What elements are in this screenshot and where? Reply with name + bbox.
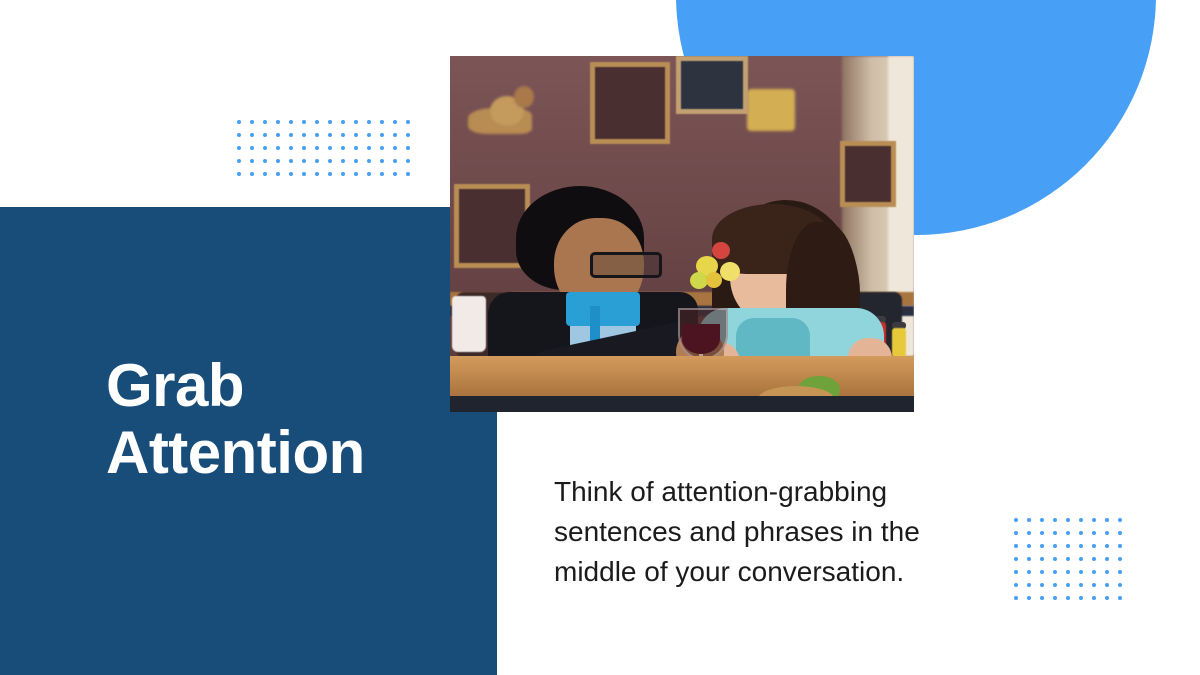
dot xyxy=(354,146,358,150)
photo-scene xyxy=(450,56,914,412)
dot xyxy=(1040,531,1044,535)
shelf-decor-plaque xyxy=(747,89,795,131)
dot xyxy=(354,133,358,137)
dot xyxy=(1118,583,1122,587)
dot xyxy=(1027,531,1031,535)
dot xyxy=(302,159,306,163)
wall-shelf-box xyxy=(590,62,670,144)
dot xyxy=(1079,583,1083,587)
man-glasses xyxy=(590,252,662,278)
dot xyxy=(354,120,358,124)
dot xyxy=(380,172,384,176)
dot xyxy=(263,146,267,150)
dot xyxy=(263,133,267,137)
flower xyxy=(712,242,730,259)
dot xyxy=(328,120,332,124)
flower-bouquet xyxy=(690,238,748,296)
dot xyxy=(289,133,293,137)
dot xyxy=(406,120,410,124)
dot xyxy=(393,159,397,163)
dot xyxy=(341,172,345,176)
wine-liquid xyxy=(682,324,720,354)
slide-canvas: Grab Attention Think of attention-grabbi… xyxy=(0,0,1200,675)
dot xyxy=(263,159,267,163)
dot xyxy=(354,159,358,163)
dot xyxy=(276,120,280,124)
dot xyxy=(276,133,280,137)
dot xyxy=(276,159,280,163)
dot xyxy=(289,120,293,124)
dot xyxy=(1027,570,1031,574)
dot xyxy=(1105,583,1109,587)
shelf-decor-statue xyxy=(514,86,534,108)
dot xyxy=(1014,544,1018,548)
page-title: Grab Attention xyxy=(106,352,486,486)
dot xyxy=(1014,583,1018,587)
dot xyxy=(1040,544,1044,548)
dot-grid-bottom-right xyxy=(1014,518,1122,600)
dot xyxy=(1053,583,1057,587)
dot xyxy=(1066,583,1070,587)
flower xyxy=(720,262,740,281)
dining-table xyxy=(450,356,914,396)
dot xyxy=(393,120,397,124)
dot xyxy=(393,172,397,176)
dot xyxy=(315,146,319,150)
dot xyxy=(1027,518,1031,522)
dot xyxy=(1092,583,1096,587)
dot xyxy=(315,120,319,124)
dot xyxy=(1066,596,1070,600)
dot xyxy=(315,133,319,137)
dot xyxy=(1014,518,1018,522)
dot xyxy=(1053,531,1057,535)
dot xyxy=(328,159,332,163)
dot xyxy=(367,120,371,124)
dot xyxy=(380,146,384,150)
dot xyxy=(289,159,293,163)
dot xyxy=(1053,518,1057,522)
dot xyxy=(1066,518,1070,522)
dot xyxy=(367,133,371,137)
dot xyxy=(250,159,254,163)
dot xyxy=(341,159,345,163)
dot xyxy=(380,159,384,163)
dot xyxy=(263,172,267,176)
dot xyxy=(250,172,254,176)
dot xyxy=(1092,557,1096,561)
dot xyxy=(1105,557,1109,561)
dot xyxy=(341,133,345,137)
dot xyxy=(1105,518,1109,522)
dot xyxy=(302,172,306,176)
dot xyxy=(1027,583,1031,587)
dot xyxy=(1092,596,1096,600)
dot-grid-top-left xyxy=(237,120,410,176)
dot xyxy=(1066,557,1070,561)
dot xyxy=(1092,518,1096,522)
dot xyxy=(1079,544,1083,548)
dot xyxy=(1105,531,1109,535)
dining-table-edge xyxy=(450,396,914,412)
dot xyxy=(1092,531,1096,535)
dot xyxy=(328,172,332,176)
dot xyxy=(380,120,384,124)
dot xyxy=(1118,570,1122,574)
dot xyxy=(328,146,332,150)
dot xyxy=(1066,544,1070,548)
dot xyxy=(276,146,280,150)
dot xyxy=(1040,518,1044,522)
man-collar xyxy=(566,292,640,326)
dot xyxy=(1105,544,1109,548)
dot xyxy=(1092,570,1096,574)
dot xyxy=(276,172,280,176)
dot xyxy=(1066,531,1070,535)
dot xyxy=(1118,596,1122,600)
dot xyxy=(250,120,254,124)
dot xyxy=(367,172,371,176)
dot xyxy=(1105,596,1109,600)
dot xyxy=(1053,557,1057,561)
dot xyxy=(263,120,267,124)
dot xyxy=(393,146,397,150)
dot xyxy=(237,159,241,163)
dot xyxy=(302,146,306,150)
dot xyxy=(1079,518,1083,522)
condiment-bottle xyxy=(892,328,906,358)
dot xyxy=(354,172,358,176)
dot xyxy=(1040,583,1044,587)
dot xyxy=(289,172,293,176)
dot xyxy=(1014,596,1018,600)
cup xyxy=(452,296,486,352)
dot xyxy=(1027,596,1031,600)
dot xyxy=(406,159,410,163)
wall-shelf-box xyxy=(676,56,748,114)
body-paragraph: Think of attention-grabbing sentences an… xyxy=(554,472,938,591)
dot xyxy=(1040,596,1044,600)
dot xyxy=(393,133,397,137)
dot xyxy=(1053,596,1057,600)
dot xyxy=(1053,570,1057,574)
dot xyxy=(1118,544,1122,548)
dot xyxy=(237,133,241,137)
page-title-line-2: Attention xyxy=(106,419,486,486)
dot xyxy=(1040,557,1044,561)
dot xyxy=(237,120,241,124)
dot xyxy=(1014,531,1018,535)
dot xyxy=(289,146,293,150)
dot xyxy=(237,146,241,150)
dot xyxy=(1014,557,1018,561)
dot xyxy=(1040,570,1044,574)
dot xyxy=(1118,531,1122,535)
dot xyxy=(1092,544,1096,548)
dot xyxy=(315,159,319,163)
dot xyxy=(250,146,254,150)
dot xyxy=(341,120,345,124)
dot xyxy=(367,146,371,150)
dot xyxy=(250,133,254,137)
flower xyxy=(706,272,722,288)
dot xyxy=(406,172,410,176)
slide-photo xyxy=(450,56,914,412)
dot xyxy=(1105,570,1109,574)
dot xyxy=(1118,518,1122,522)
dot xyxy=(328,133,332,137)
dot xyxy=(315,172,319,176)
dot xyxy=(1014,570,1018,574)
dot xyxy=(406,133,410,137)
dot xyxy=(302,120,306,124)
dot xyxy=(237,172,241,176)
page-title-line-1: Grab xyxy=(106,352,486,419)
dot xyxy=(1079,557,1083,561)
dot xyxy=(1053,544,1057,548)
dot xyxy=(1118,557,1122,561)
dot xyxy=(341,146,345,150)
dot xyxy=(1079,531,1083,535)
dot xyxy=(1027,557,1031,561)
dot xyxy=(1066,570,1070,574)
dot xyxy=(1027,544,1031,548)
dot xyxy=(1079,570,1083,574)
dot xyxy=(302,133,306,137)
dot xyxy=(1079,596,1083,600)
dot xyxy=(406,146,410,150)
dot xyxy=(380,133,384,137)
dot xyxy=(367,159,371,163)
wall-shelf-box xyxy=(840,141,896,207)
